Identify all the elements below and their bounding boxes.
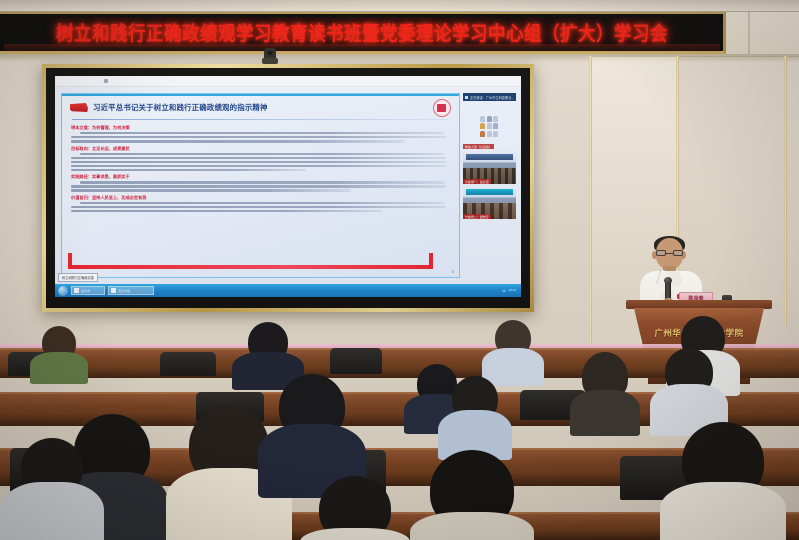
gallery-thumbnails — [463, 103, 516, 149]
participant-tile-room-1[interactable]: 分会场一：会议室 — [463, 151, 516, 184]
slide-page-number: 5 — [452, 270, 454, 274]
seal-core — [437, 104, 446, 112]
windows-taskbar[interactable]: 会议中 演示文稿 中 16:12 — [55, 284, 521, 297]
text-line — [71, 169, 306, 171]
attendee-body — [660, 482, 786, 540]
windows-start-icon[interactable] — [58, 286, 68, 296]
slide-paragraph-2 — [71, 153, 450, 172]
slide-paragraph-1 — [71, 132, 450, 143]
led-banner: 树立和践行正确政绩观学习教育读书班暨党委理论学习中心组（扩大）学习会 — [0, 12, 726, 54]
taskbar-item-meeting[interactable]: 会议中 — [71, 286, 105, 295]
attendee-body — [300, 528, 410, 540]
desktop-task-button[interactable]: 树立和践行正确政绩观 — [58, 273, 98, 282]
chair — [160, 352, 216, 376]
ceiling-camera-icon — [262, 48, 278, 65]
slide-section-heading-1: 明本立道：为何管理、为何决策 — [71, 125, 450, 131]
participant-rail[interactable]: 正在演讲：广州华立科技职业... 参会人员（九宫格） — [463, 93, 516, 278]
taskbar-item-icon — [111, 288, 116, 293]
slide-red-accent-right — [429, 253, 433, 269]
taskbar-item-label: 会议中 — [81, 289, 90, 293]
tile-caption: 参会人员（九宫格） — [463, 144, 494, 149]
slide-header: 习近平总书记关于树立和践行正确政绩观的指示精神 — [62, 94, 459, 116]
speaker-indicator-icon — [465, 96, 468, 99]
camera-mount — [262, 58, 278, 64]
slide-section-heading-4: 价值旨归：坚持人民至上、功成必定有我 — [71, 195, 450, 201]
desktop-titlebar — [55, 76, 521, 87]
text-line — [80, 181, 444, 183]
meeting-app-body: 习近平总书记关于树立和践行正确政绩观的指示精神 明本立道：为何管理、为何决策 — [55, 87, 521, 284]
slide-section-heading-3: 实践路径：实事求是、真抓实干 — [71, 174, 450, 180]
attendee-blue-shirt — [438, 376, 512, 458]
attendee-body — [410, 512, 534, 540]
slide-area[interactable]: 习近平总书记关于树立和践行正确政绩观的指示精神 明本立道：为何管理、为何决策 — [61, 93, 460, 278]
text-line — [80, 153, 444, 155]
wall-trim-line-3 — [784, 56, 787, 326]
attendee-green-jacket — [30, 326, 88, 382]
participant-tile-gallery[interactable]: 参会人员（九宫格） — [463, 103, 516, 149]
display-screen[interactable]: 习近平总书记关于树立和践行正确政绩观的指示精神 明本立道：为何管理、为何决策 — [55, 76, 521, 297]
slide-paragraph-4 — [71, 202, 450, 213]
red-flag-icon — [70, 103, 88, 112]
upper-wall-right — [726, 12, 799, 54]
slide-section-heading-2: 目标取向：立足长远、成果惠民 — [71, 146, 450, 152]
camera-lens — [267, 50, 273, 56]
tile-caption: 分会场一：会议室 — [463, 179, 491, 184]
red-seal-icon — [433, 99, 451, 117]
text-line — [71, 206, 446, 208]
slide-top-accent — [62, 94, 459, 96]
tile-caption: 分会场二：报告厅 — [463, 214, 491, 219]
desktop-icon — [104, 79, 108, 83]
text-line — [71, 189, 351, 191]
attendee-grey-shirt — [0, 438, 104, 540]
taskbar-item-icon — [74, 288, 79, 293]
audience-area — [0, 330, 799, 540]
text-line — [71, 161, 446, 163]
attendee-body — [30, 352, 88, 384]
participant-tile-room-2[interactable]: 分会场二：报告厅 — [463, 186, 516, 219]
conference-hall-photo: 树立和践行正确政绩观学习教育读书班暨党委理论学习中心组（扩大）学习会 — [0, 0, 799, 540]
wall-trim-line-1 — [589, 56, 592, 345]
attendee-body — [0, 482, 104, 540]
speaker-glasses — [656, 250, 683, 256]
tray-ime-indicator[interactable]: 中 — [502, 289, 505, 293]
attendee-body — [570, 390, 640, 436]
text-line — [71, 210, 382, 212]
attendee-front-mid — [300, 476, 410, 540]
wall-panel-seam — [592, 56, 799, 57]
attendee-light-blue-shirt — [482, 320, 544, 382]
slide-paragraph-3 — [71, 181, 450, 192]
display-bezel: 习近平总书记关于树立和践行正确政绩观的指示精神 明本立道：为何管理、为何决策 — [46, 68, 530, 308]
slide-title: 习近平总书记关于树立和践行正确政绩观的指示精神 — [93, 102, 268, 113]
avatar-grid-icon — [480, 116, 498, 137]
text-line — [80, 202, 444, 204]
slide-body: 明本立道：为何管理、为何决策 目标取向：立足长远、成果惠民 — [62, 120, 459, 218]
chair — [330, 348, 382, 374]
presentation-display[interactable]: 习近平总书记关于树立和践行正确政绩观的指示精神 明本立道：为何管理、为何决策 — [42, 64, 534, 312]
slide-red-accent-bottom — [68, 265, 433, 269]
text-line — [71, 157, 446, 159]
microphone-capsule — [664, 277, 672, 284]
active-speaker-label: 正在演讲：广州华立科技职业... — [463, 93, 516, 101]
text-line — [71, 136, 446, 138]
podium-top — [626, 300, 772, 309]
led-banner-text: 树立和践行正确政绩观学习教育读书班暨党委理论学习中心组（扩大）学习会 — [56, 18, 668, 46]
attendee-long-hair — [570, 352, 640, 432]
taskbar-item-presentation[interactable]: 演示文稿 — [108, 286, 154, 295]
led-banner-screen: 树立和践行正确政绩观学习教育读书班暨党委理论学习中心组（扩大）学习会 — [4, 17, 720, 47]
text-line — [71, 185, 446, 187]
text-line — [80, 132, 444, 134]
text-line — [71, 140, 404, 142]
active-speaker-text: 正在演讲：广州华立科技职业... — [470, 95, 514, 100]
taskbar-item-label: 演示文稿 — [118, 289, 130, 293]
attendee-front-right — [660, 422, 786, 540]
text-line — [71, 165, 446, 167]
taskbar-tray[interactable]: 中 16:12 — [502, 289, 518, 293]
attendee-front-left — [410, 450, 534, 540]
taskbar-clock: 16:12 — [508, 289, 516, 292]
